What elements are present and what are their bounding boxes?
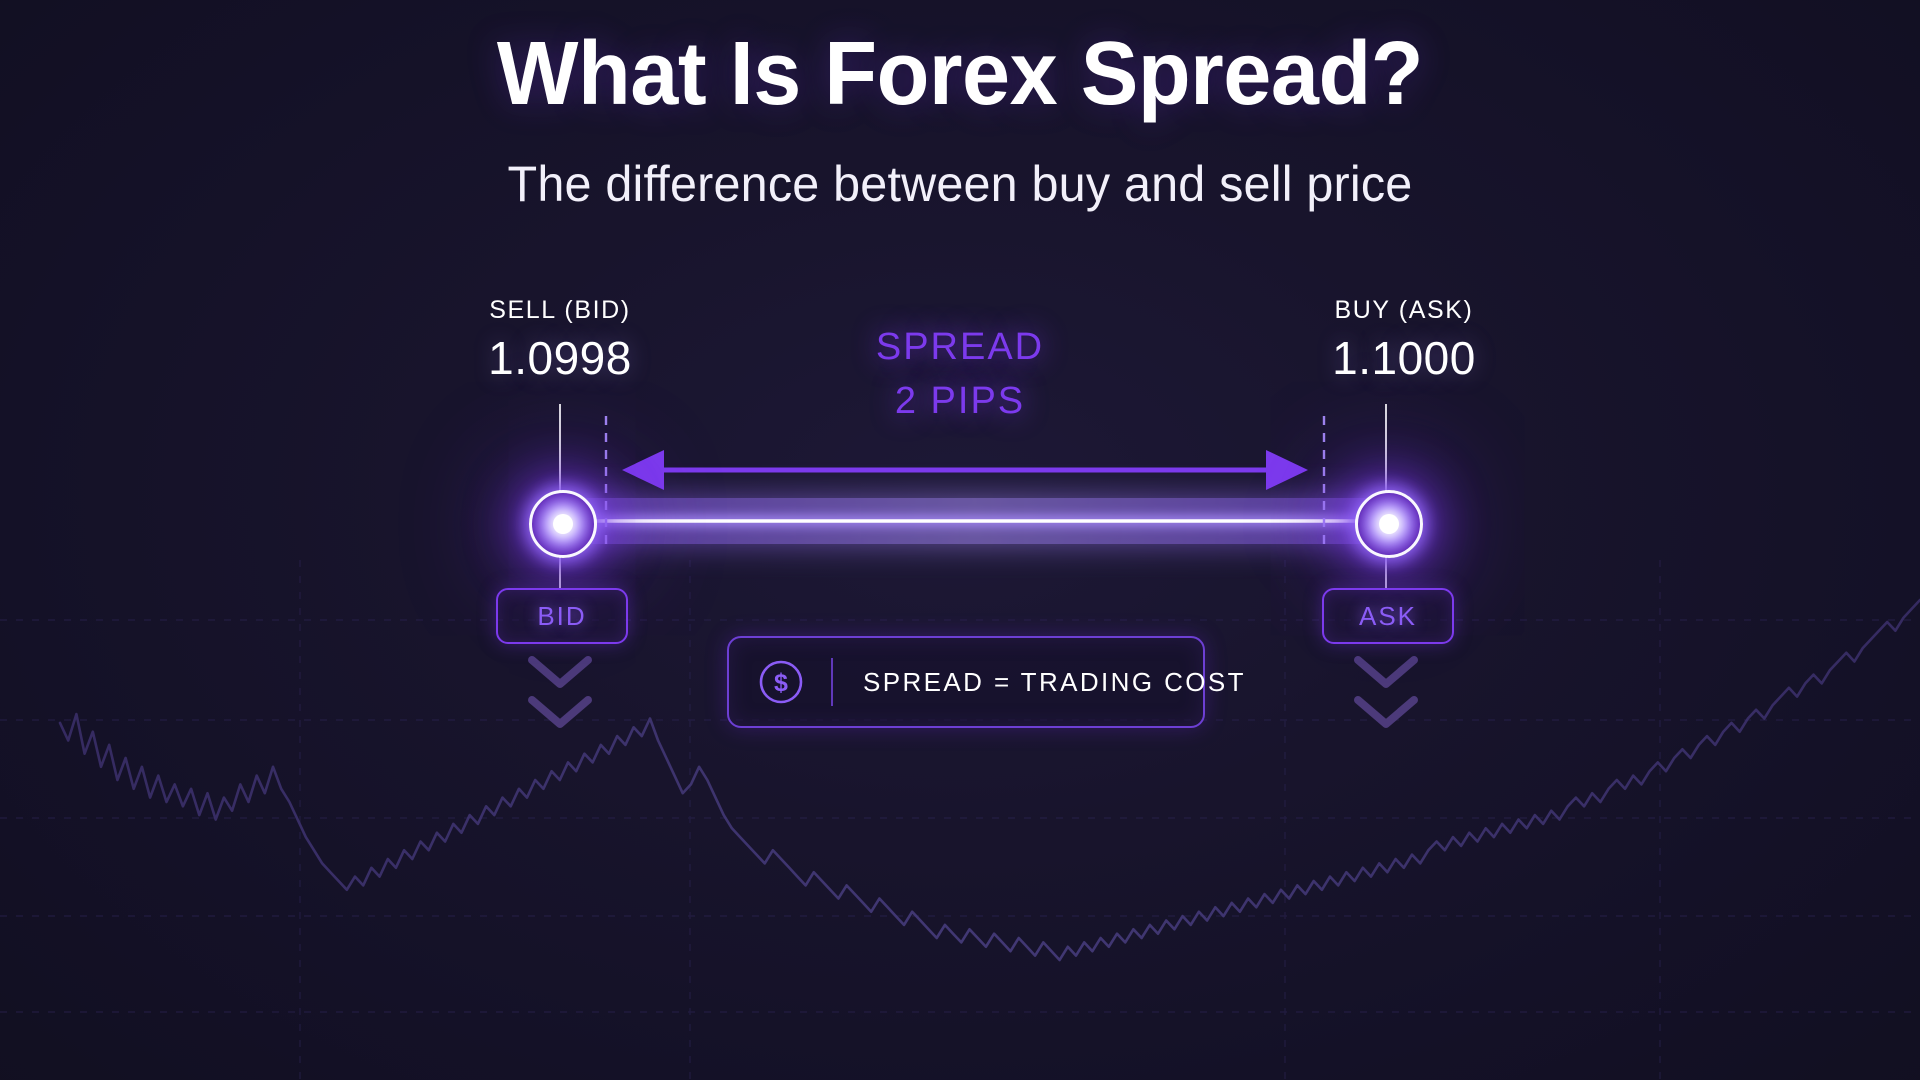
ask-badge: ASK: [1322, 588, 1454, 644]
spread-diagram: [0, 0, 1920, 1080]
chevron-down-icon: [1358, 700, 1414, 724]
ask-node-marker: [1355, 490, 1423, 558]
chevron-down-icon: [532, 660, 588, 684]
trading-cost-text: SPREAD = TRADING COST: [863, 667, 1246, 698]
dollar-circle-icon: $: [757, 658, 805, 706]
chevron-down-icon: [1358, 660, 1414, 684]
bid-chevrons: [532, 660, 588, 724]
ask-chevrons: [1358, 660, 1414, 724]
arrow-left-icon: [622, 450, 664, 490]
arrow-right-icon: [1266, 450, 1308, 490]
bid-badge: BID: [496, 588, 628, 644]
node-core-dot: [553, 514, 573, 534]
bid-node-marker: [529, 490, 597, 558]
node-core-dot: [1379, 514, 1399, 534]
chevron-down-icon: [532, 700, 588, 724]
infographic-canvas: What Is Forex Spread? The difference bet…: [0, 0, 1920, 1080]
spread-measure-arrow: [622, 450, 1308, 490]
trading-cost-pill: $ SPREAD = TRADING COST: [727, 636, 1205, 728]
pill-divider: [831, 658, 833, 706]
svg-text:$: $: [774, 669, 788, 697]
